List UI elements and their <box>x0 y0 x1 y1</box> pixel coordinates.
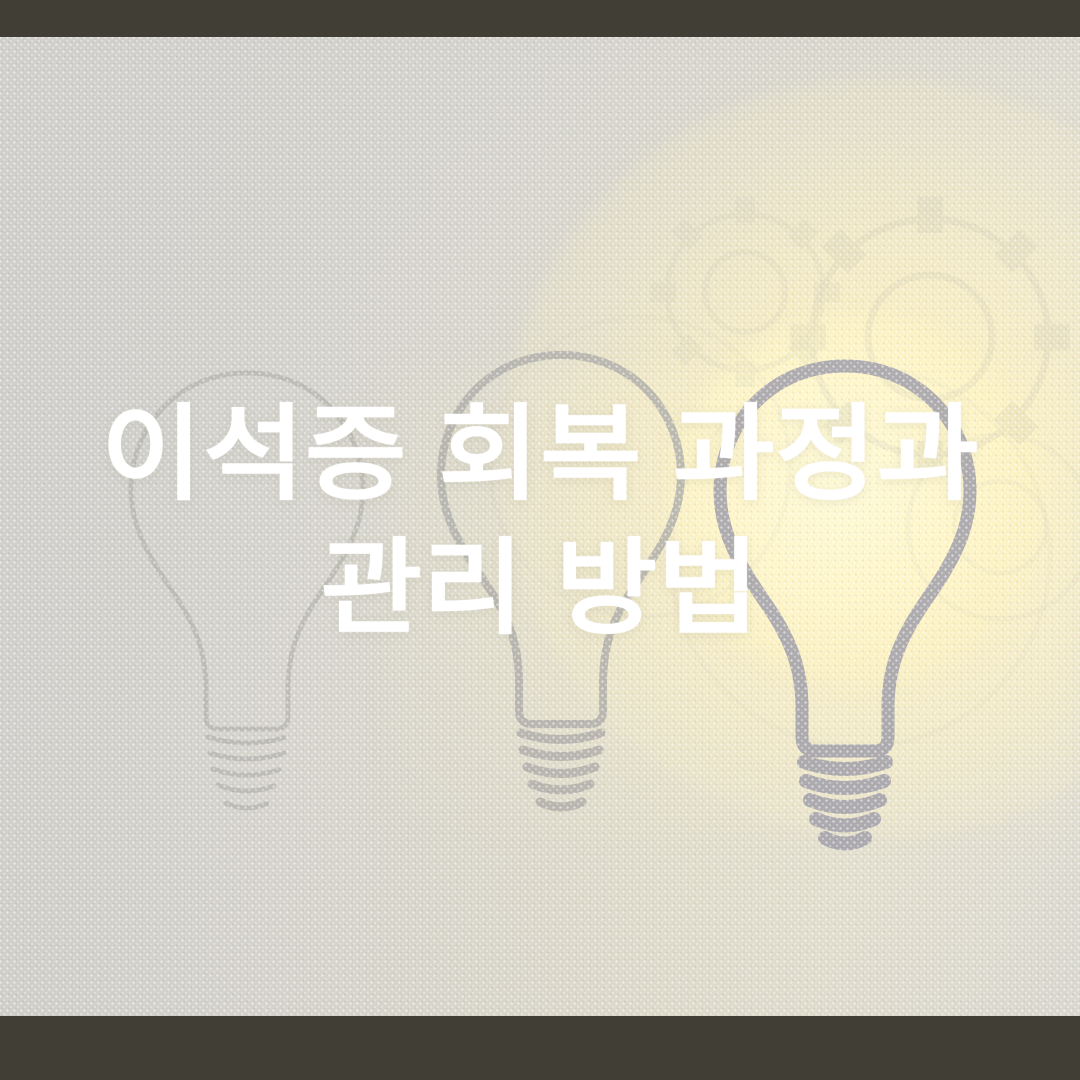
image-stage: 이석증 회복 과정과 관리 방법 <box>0 37 1080 1016</box>
bulb-right <box>720 366 970 844</box>
thumbnail-card: 이석증 회복 과정과 관리 방법 <box>0 0 1080 1080</box>
top-letterbox-bar <box>0 0 1080 37</box>
bottom-letterbox-bar <box>0 1016 1080 1080</box>
bulb-middle <box>441 355 681 807</box>
lightbulb-icon-group <box>0 37 1080 1016</box>
bulb-left <box>131 373 363 808</box>
